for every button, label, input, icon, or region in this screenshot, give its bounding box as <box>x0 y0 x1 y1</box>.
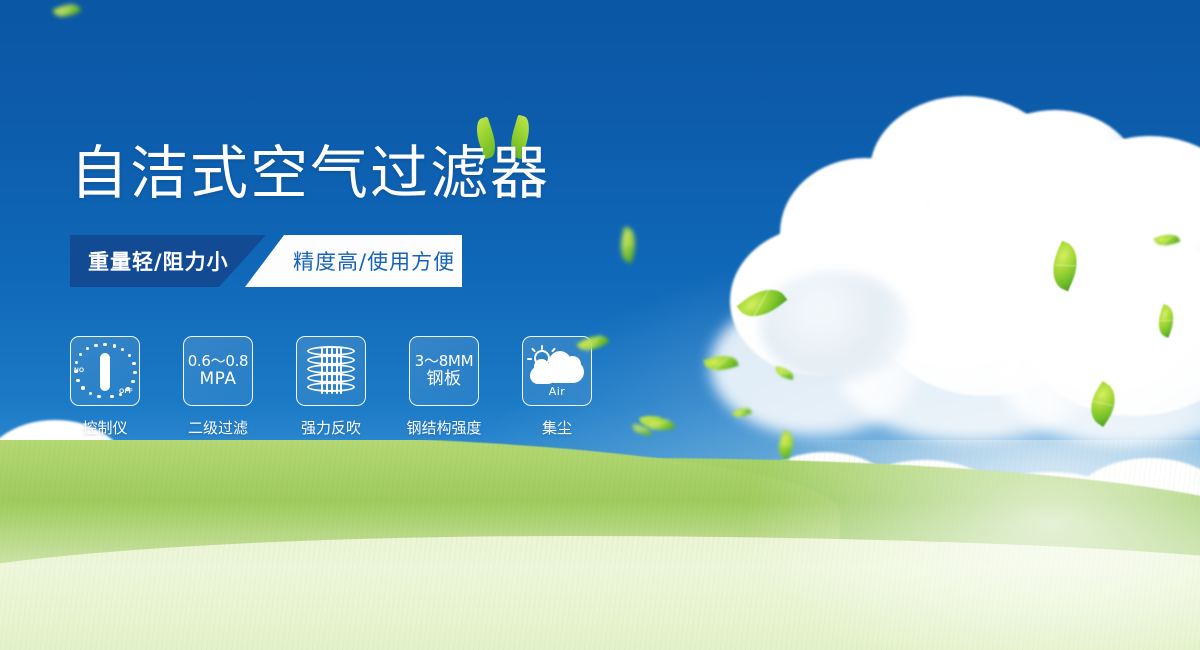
gauge-needle <box>100 353 110 391</box>
subtitle-right-text: 精度高/使用方便 <box>245 246 455 276</box>
floating-leaf-over-label <box>645 416 675 434</box>
air-caption: Air <box>530 385 584 398</box>
feature-item-two-stage-filter[interactable]: 0.6～0.8 MPA 二级过滤 <box>183 336 253 438</box>
feature-item-strong-backblow[interactable]: 强力反吹 <box>296 336 366 438</box>
sunlight-bloom <box>740 440 1200 650</box>
feature-list: NO OFF 控制仪 0.6～0.8 MPA 二级过滤 <box>70 336 592 438</box>
feature-icon-box: 0.6～0.8 MPA <box>183 336 253 406</box>
floating-leaf <box>732 405 752 421</box>
floating-leaf <box>631 424 652 437</box>
floating-leaf <box>1044 241 1086 292</box>
filter-coil-icon <box>307 346 355 396</box>
subtitle-left-text: 重量轻/阻力小 <box>70 246 229 276</box>
gauge-icon: NO OFF <box>74 340 136 402</box>
pressure-range: 0.6～0.8 <box>188 353 249 370</box>
feature-item-dust-collection[interactable]: Air 集尘 <box>522 336 592 438</box>
subtitle-left-panel: 重量轻/阻力小 <box>70 235 266 287</box>
feature-icon-box: Air <box>522 336 592 406</box>
page-title: 自洁式空气过滤器 <box>70 144 550 202</box>
steel-thickness: 3～8MM <box>415 353 473 370</box>
gauge-label-no: NO <box>74 367 84 374</box>
feature-label: 强力反吹 <box>301 417 361 438</box>
cloud-sun-icon: Air <box>530 348 584 394</box>
floating-leaf <box>639 413 665 430</box>
floating-leaf <box>1154 230 1181 249</box>
pressure-text: 0.6～0.8 MPA <box>188 353 249 389</box>
floating-leaf <box>616 227 640 264</box>
pressure-unit: MPA <box>188 370 249 389</box>
floating-leaf <box>52 0 81 22</box>
feature-label: 钢结构强度 <box>407 417 482 438</box>
product-banner: 自洁式空气过滤器 重量轻/阻力小 精度高/使用方便 <box>0 0 1200 650</box>
floating-leaf <box>737 279 788 327</box>
feature-label: 二级过滤 <box>188 417 248 438</box>
coil-bars <box>321 348 341 394</box>
floating-leaf <box>1153 304 1178 338</box>
steel-material: 钢板 <box>415 370 473 389</box>
cumulus-cloud-right <box>720 96 1200 426</box>
feature-icon-box <box>296 336 366 406</box>
grass-field <box>0 440 1200 650</box>
feature-label: 集尘 <box>542 417 572 438</box>
subtitle-right-panel: 精度高/使用方便 <box>245 235 462 287</box>
feature-item-steel-strength[interactable]: 3～8MM 钢板 钢结构强度 <box>409 336 479 438</box>
floating-leaf <box>1082 381 1125 427</box>
feature-item-controller[interactable]: NO OFF 控制仪 <box>70 336 140 438</box>
steel-text: 3～8MM 钢板 <box>415 353 473 389</box>
feature-icon-box: NO OFF <box>70 336 140 406</box>
cloud-large <box>544 361 584 383</box>
feature-icon-box: 3～8MM 钢板 <box>409 336 479 406</box>
floating-leaf <box>703 350 738 375</box>
floating-leaf <box>774 366 795 380</box>
subtitle-bar: 重量轻/阻力小 精度高/使用方便 <box>70 235 462 287</box>
feature-label: 控制仪 <box>82 417 127 438</box>
gauge-label-off: OFF <box>119 388 133 395</box>
